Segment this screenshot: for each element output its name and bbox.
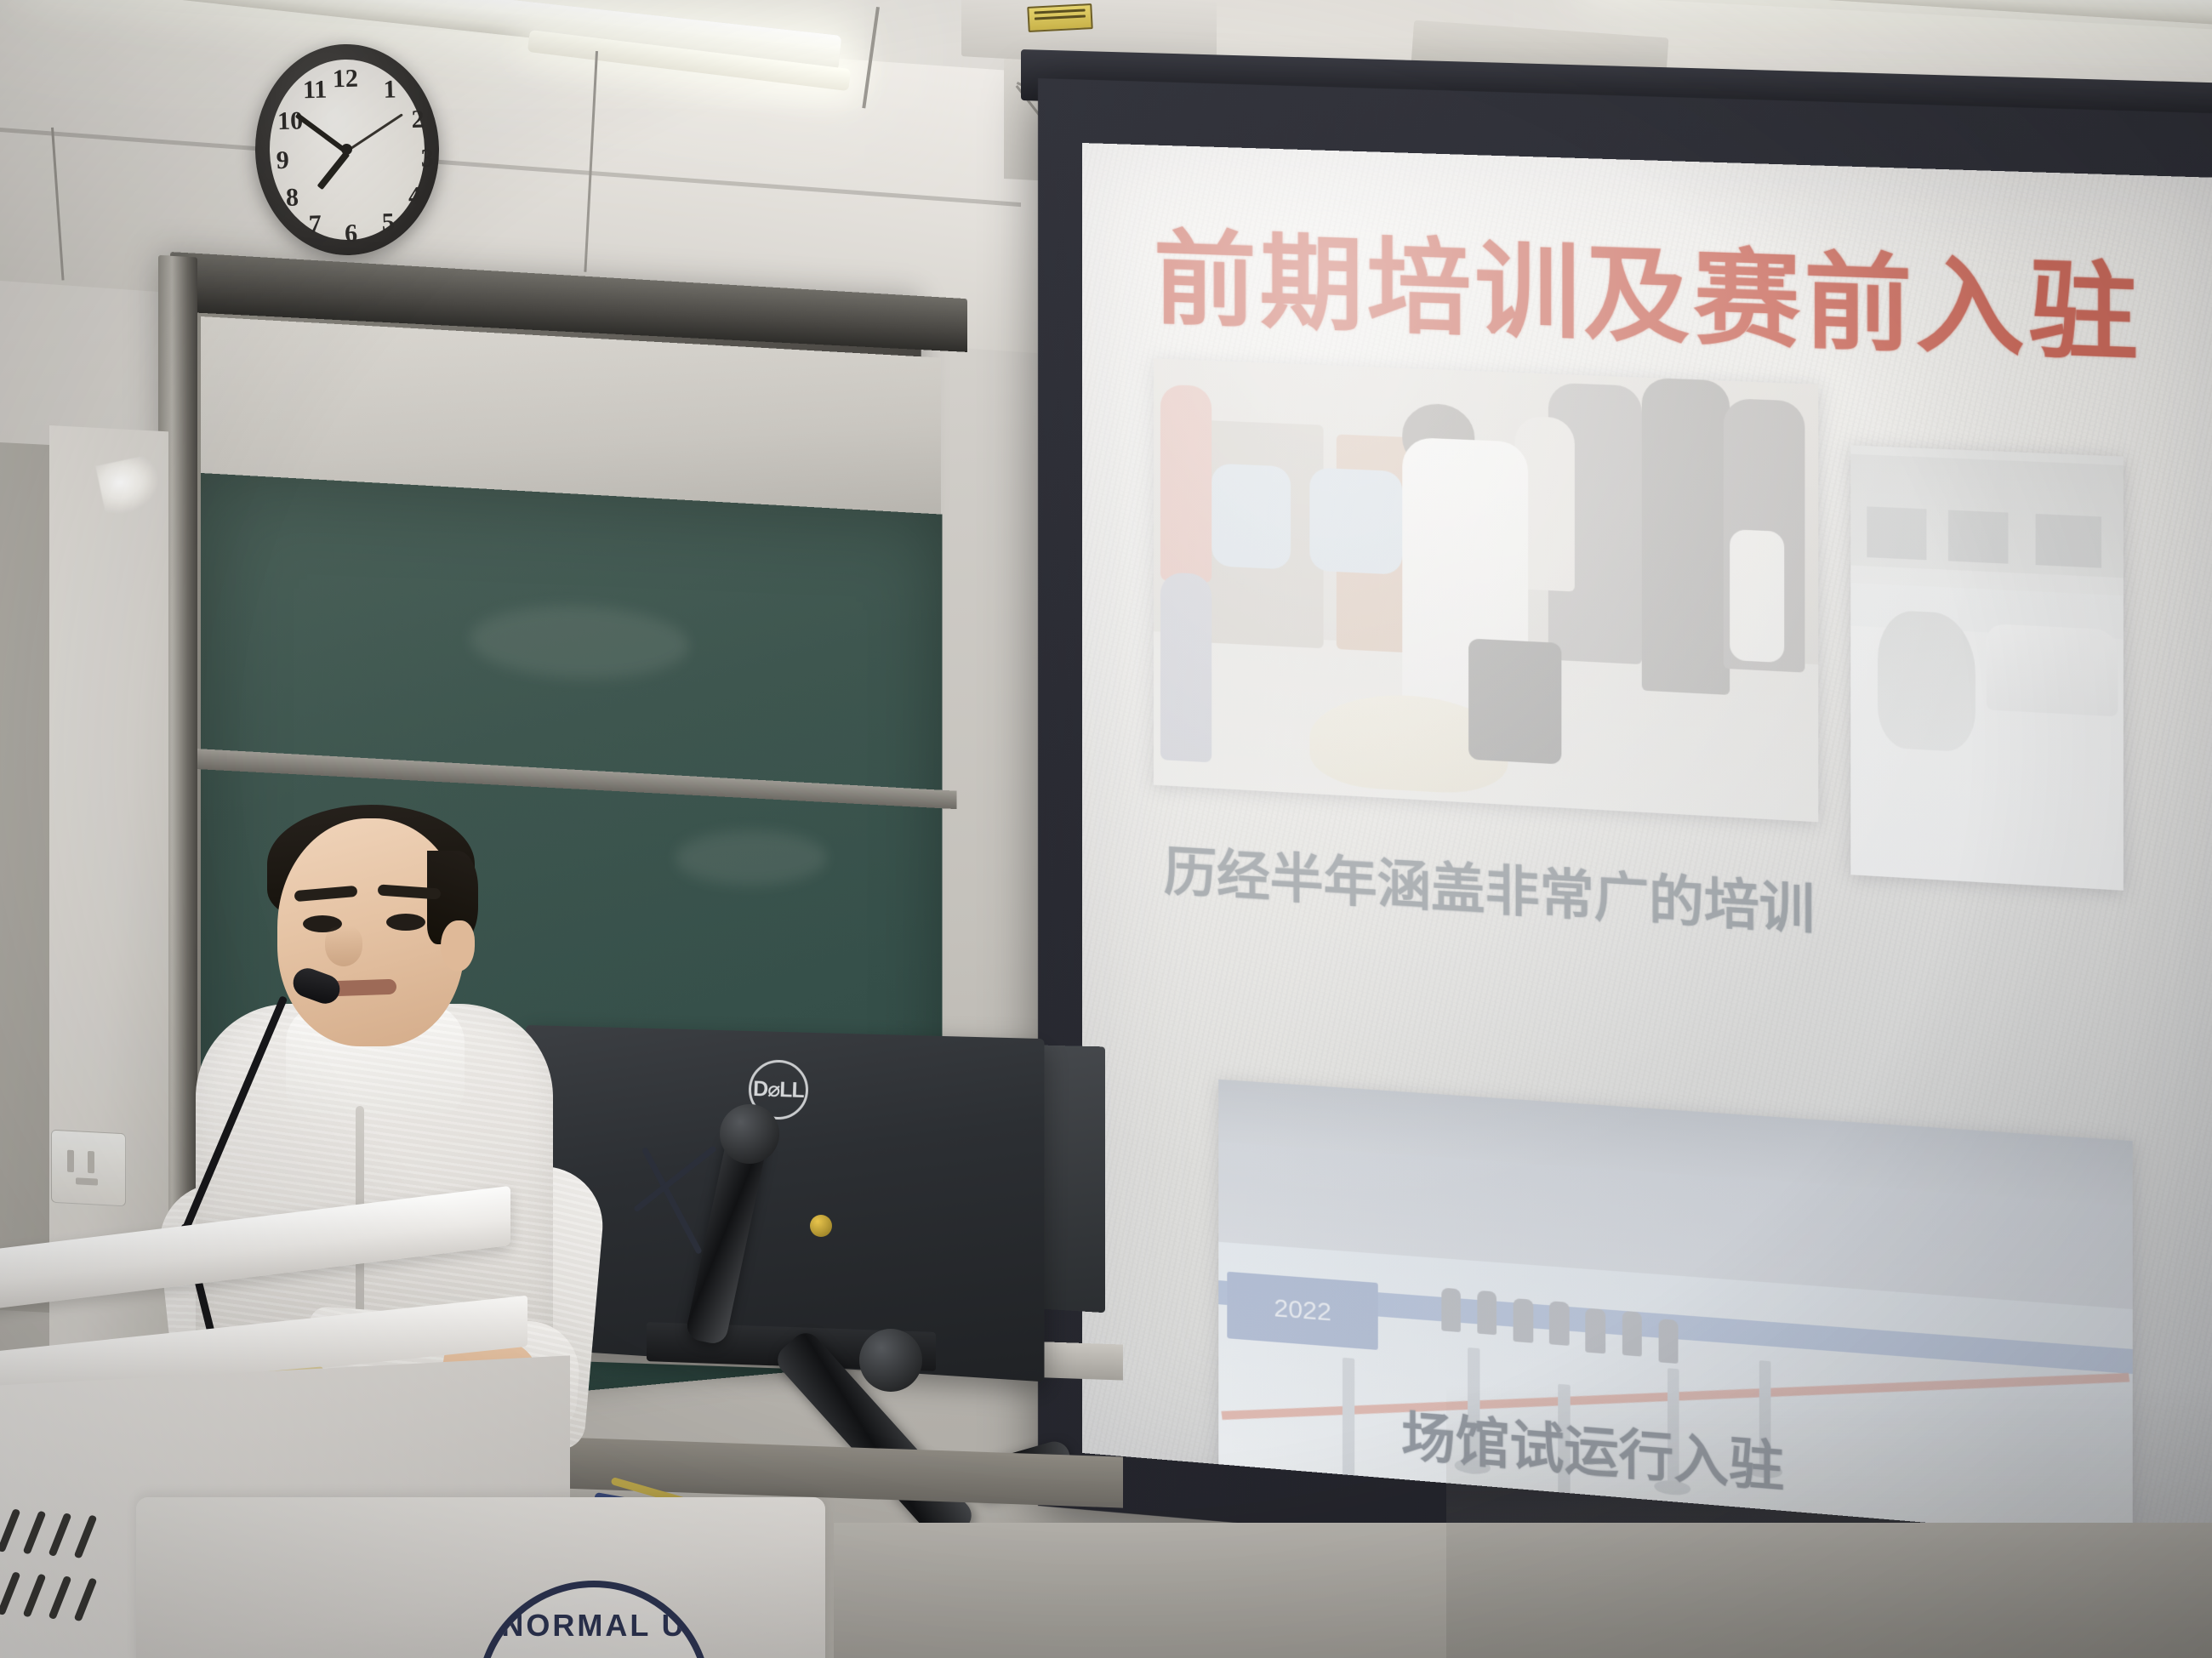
lectern-front-panel [136,1497,825,1658]
clock-numeral-2: 2 [403,106,433,133]
clock-second-hand [346,113,403,152]
presenter-ear [441,920,475,971]
shadow-corner [1446,1386,2212,1658]
wall-column [49,425,168,1367]
snowy-street-photo [1850,445,2124,890]
clock-numeral-4: 4 [400,183,430,209]
lectern-vents [0,1502,119,1653]
clock-numeral-3: 3 [413,145,442,172]
clock-numeral-8: 8 [277,185,307,211]
clock-numeral-1: 1 [375,77,405,103]
slide-caption-training: 历经半年涵盖非常广的培训 [1164,829,1815,945]
clock-center-pin [341,144,352,155]
clock-numeral-5: 5 [373,209,403,236]
presenter-eye-right [386,914,425,931]
wall-power-outlet[interactable] [51,1130,126,1207]
projection-screen-canvas: 前期培训及赛前入驻 [1082,143,2212,1548]
clock-numeral-6: 6 [336,220,366,247]
university-seal-text: NORMAL U [501,1608,686,1644]
slide-title: 前期培训及赛前入驻 [1154,222,2201,377]
monitor-arm-tension-knob[interactable] [810,1215,832,1237]
presenter-nose [325,926,362,966]
wall-clock: 12 1 2 3 4 5 6 7 8 9 10 11 [253,42,442,258]
clock-numeral-11: 11 [300,77,330,104]
rink-2022-signage: 2022 [1228,1272,1378,1351]
monitor-arm-joint-mid[interactable] [859,1329,922,1392]
cpr-training-photo [1154,358,1818,822]
clock-numeral-12: 12 [330,66,360,93]
equipment-label-sticker [1027,3,1092,32]
clock-hour-hand [317,151,351,191]
monitor-arm-joint-upper[interactable] [720,1104,779,1164]
classroom-photo-scene: 12 1 2 3 4 5 6 7 8 9 10 11 [0,0,2212,1658]
clock-numeral-9: 9 [268,148,298,174]
clock-numeral-7: 7 [300,212,330,238]
